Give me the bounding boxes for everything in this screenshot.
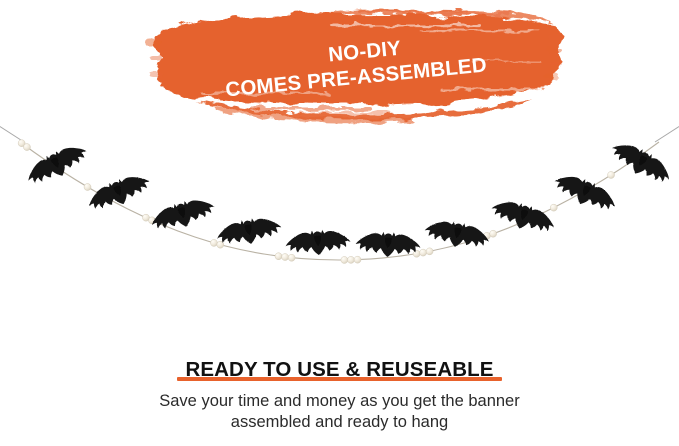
bead bbox=[413, 250, 420, 257]
hanging-string-right bbox=[655, 124, 679, 142]
bead bbox=[282, 254, 289, 261]
bead bbox=[490, 230, 497, 237]
bead bbox=[84, 184, 91, 191]
bead bbox=[608, 171, 615, 178]
brush-stroke-shape bbox=[0, 0, 679, 140]
promo-badge: NO-DIY COMES PRE-ASSEMBLED bbox=[0, 0, 679, 140]
footer-heading: READY TO USE & REUSEABLE bbox=[185, 358, 493, 382]
bead bbox=[354, 256, 361, 263]
footer-subtext-line-1: Save your time and money as you get the … bbox=[0, 391, 679, 412]
footer-subtext: Save your time and money as you get the … bbox=[0, 391, 679, 434]
bead bbox=[288, 254, 295, 261]
bead bbox=[275, 253, 282, 260]
product-marketing-image: NO-DIY COMES PRE-ASSEMBLED bbox=[0, 0, 679, 446]
bat-group bbox=[22, 136, 676, 259]
bead bbox=[210, 239, 217, 246]
footer-text-block: READY TO USE & REUSEABLE Save your time … bbox=[0, 358, 679, 434]
hanging-string-left bbox=[0, 124, 24, 142]
footer-heading-wrap: READY TO USE & REUSEABLE bbox=[185, 358, 493, 382]
bat-bead-garland bbox=[0, 120, 679, 295]
bead bbox=[341, 256, 348, 263]
bead bbox=[420, 249, 427, 256]
bead bbox=[347, 256, 354, 263]
bead bbox=[426, 248, 433, 255]
bead bbox=[550, 204, 557, 211]
bead bbox=[23, 144, 30, 151]
garland-illustration bbox=[0, 120, 679, 295]
footer-subtext-line-2: assembled and ready to hang bbox=[0, 412, 679, 433]
